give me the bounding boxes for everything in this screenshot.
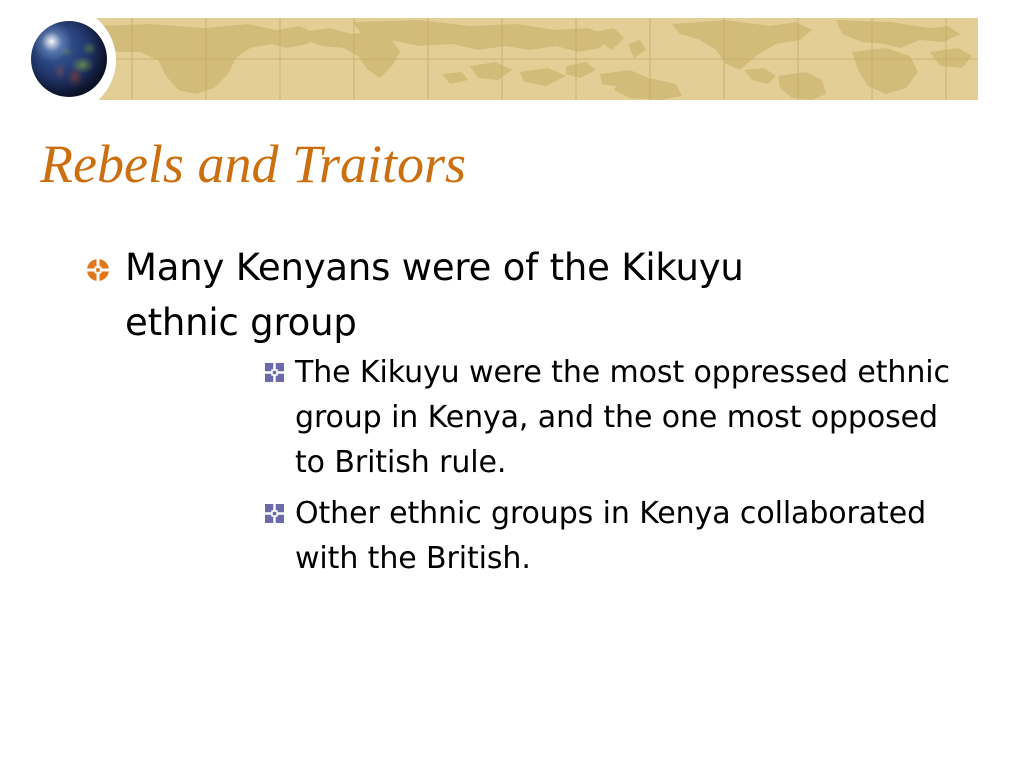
sublist-level2: The Kikuyu were the most oppressed ethni…	[125, 350, 984, 581]
presentation-slide: Rebels and Traitors Many Kenyans were of…	[0, 0, 1024, 768]
world-map-decoration	[0, 18, 978, 100]
list-item-level1: Many Kenyans were of the Kikuyu ethnic g…	[0, 240, 1024, 581]
globe-icon	[31, 21, 107, 97]
banner-band	[0, 18, 978, 100]
list-item-level2: Other ethnic groups in Kenya collaborate…	[125, 491, 984, 581]
list-item-level1-text: Many Kenyans were of the Kikuyu ethnic g…	[125, 240, 845, 350]
blue-square-grid-bullet-icon	[265, 363, 284, 382]
orange-compass-bullet-icon	[86, 258, 110, 282]
list-item-level2: The Kikuyu were the most oppressed ethni…	[125, 350, 984, 485]
page-title: Rebels and Traitors	[40, 133, 970, 195]
list-item-level2-text: The Kikuyu were the most oppressed ethni…	[295, 350, 954, 485]
blue-square-grid-bullet-icon	[265, 504, 284, 523]
slide-body: Many Kenyans were of the Kikuyu ethnic g…	[0, 240, 1024, 593]
slide-header-banner	[0, 0, 1024, 118]
list-item-level2-text: Other ethnic groups in Kenya collaborate…	[295, 491, 954, 581]
